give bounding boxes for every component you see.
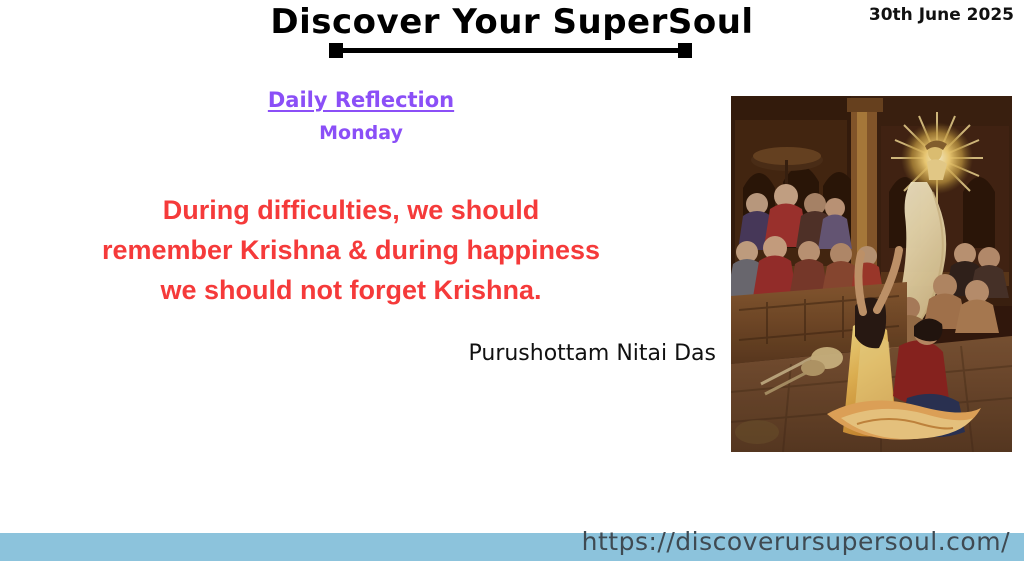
quote-line-1: During difficulties, we should [28,190,674,230]
quote-author: Purushottam Nitai Das [280,341,716,366]
artwork-image [731,96,1012,452]
quote-line-3: we should not forget Krishna. [28,270,674,310]
daily-reflection-heading: Daily Reflection [245,88,477,112]
website-url[interactable]: https://discoverursupersoul.com/ [582,527,1010,556]
slide-canvas: Discover Your SuperSoul 30th June 2025 D… [0,0,1024,577]
date-label: 30th June 2025 [869,5,1014,25]
quote-line-2: remember Krishna & during happiness [28,230,674,270]
title-underline-rule [331,48,690,53]
quote-text: During difficulties, we should remember … [28,190,674,310]
weekday-label: Monday [245,122,477,144]
